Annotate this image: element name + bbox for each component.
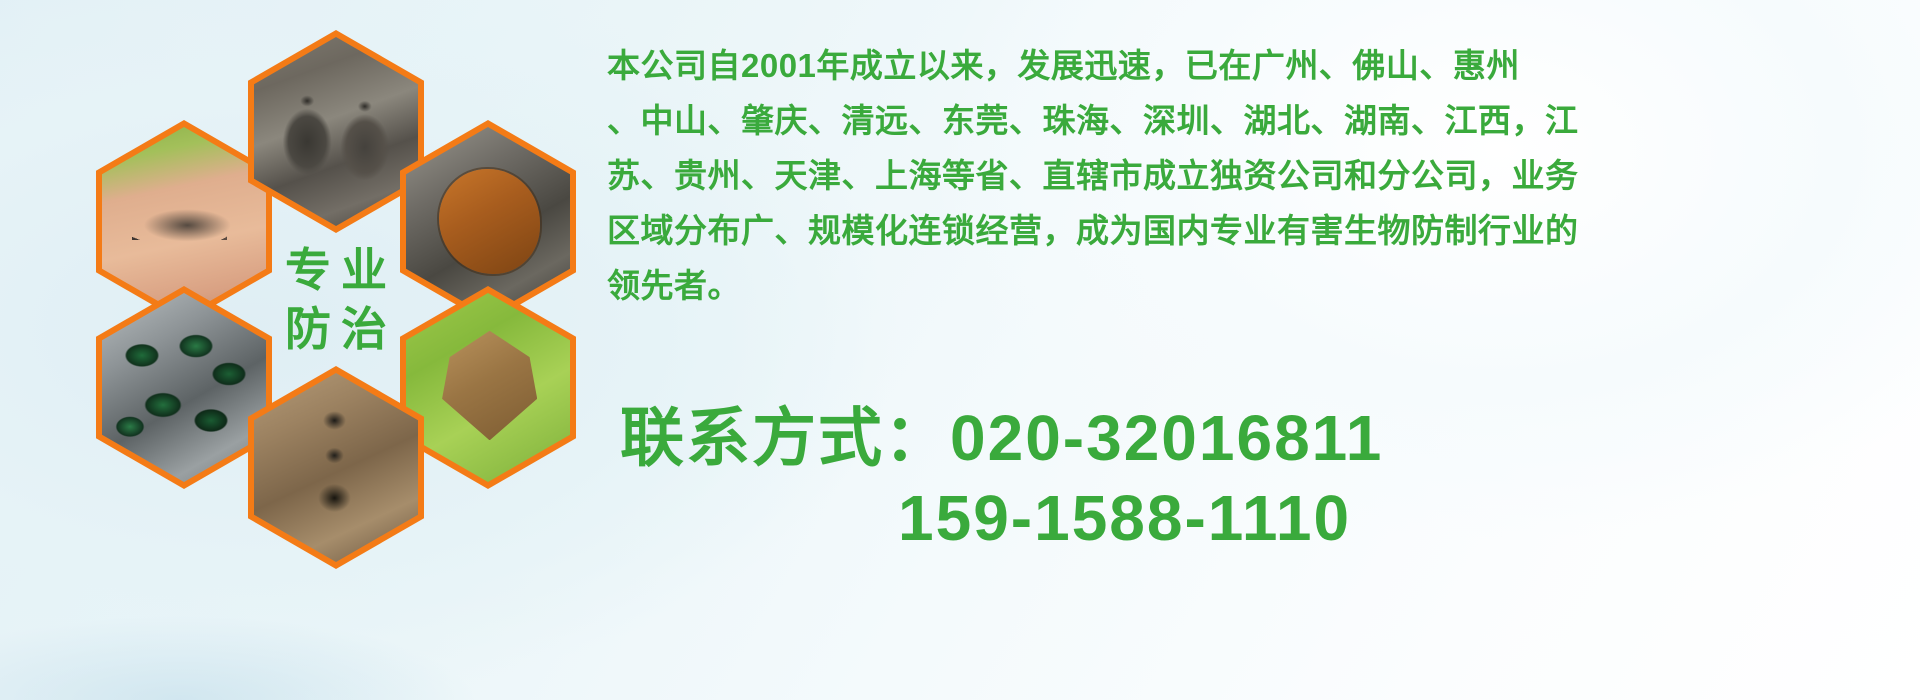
phone-primary[interactable]: 020-32016811 [950,402,1383,474]
description-line-1: 本公司自2001年成立以来，发展迅速，已在广州、佛山、惠州 [607,38,1907,93]
contact-label: 联系方式： [620,402,950,474]
flies-photo-frame [102,293,266,482]
flies-image [102,293,266,482]
stinkbug-image [406,293,570,482]
ant-image [254,373,418,562]
rats-image [254,37,418,226]
description-line-4: 区域分布广、规模化连锁经营，成为国内专业有害生物防制行业的 [607,203,1907,258]
flies-photo [96,286,272,489]
company-description: 本公司自2001年成立以来，发展迅速，已在广州、佛山、惠州 、中山、肇庆、清远、… [607,38,1907,313]
description-line-2: 、中山、肇庆、清远、东莞、珠海、深圳、湖北、湖南、江西，江 [607,93,1907,148]
stinkbug-photo-frame [406,293,570,482]
pest-control-banner: 专业 防治 本公司自2001年成立以来，发展迅速，已在广州、佛山、惠州 、中山、… [0,0,1920,700]
stinkbug-photo [400,286,576,489]
contact-primary-line: 联系方式：020-32016811 [620,398,1900,478]
honeycomb-photo-collage: 专业 防治 [96,8,596,568]
contact-block: 联系方式：020-32016811 159-1588-1110 [620,398,1900,558]
slogan-line-2: 防治 [275,300,397,359]
rats-photo-frame [254,37,418,226]
center-slogan-hex: 专业 防治 [248,198,424,401]
description-line-5: 领先者。 [607,258,1907,313]
center-slogan-frame: 专业 防治 [248,198,424,401]
slogan-line-1: 专业 [275,241,397,300]
description-line-3: 苏、贵州、天津、上海等省、直辖市成立独资公司和分公司，业务 [607,148,1907,203]
ant-photo-frame [254,373,418,562]
phone-secondary[interactable]: 159-1588-1110 [620,478,1900,558]
